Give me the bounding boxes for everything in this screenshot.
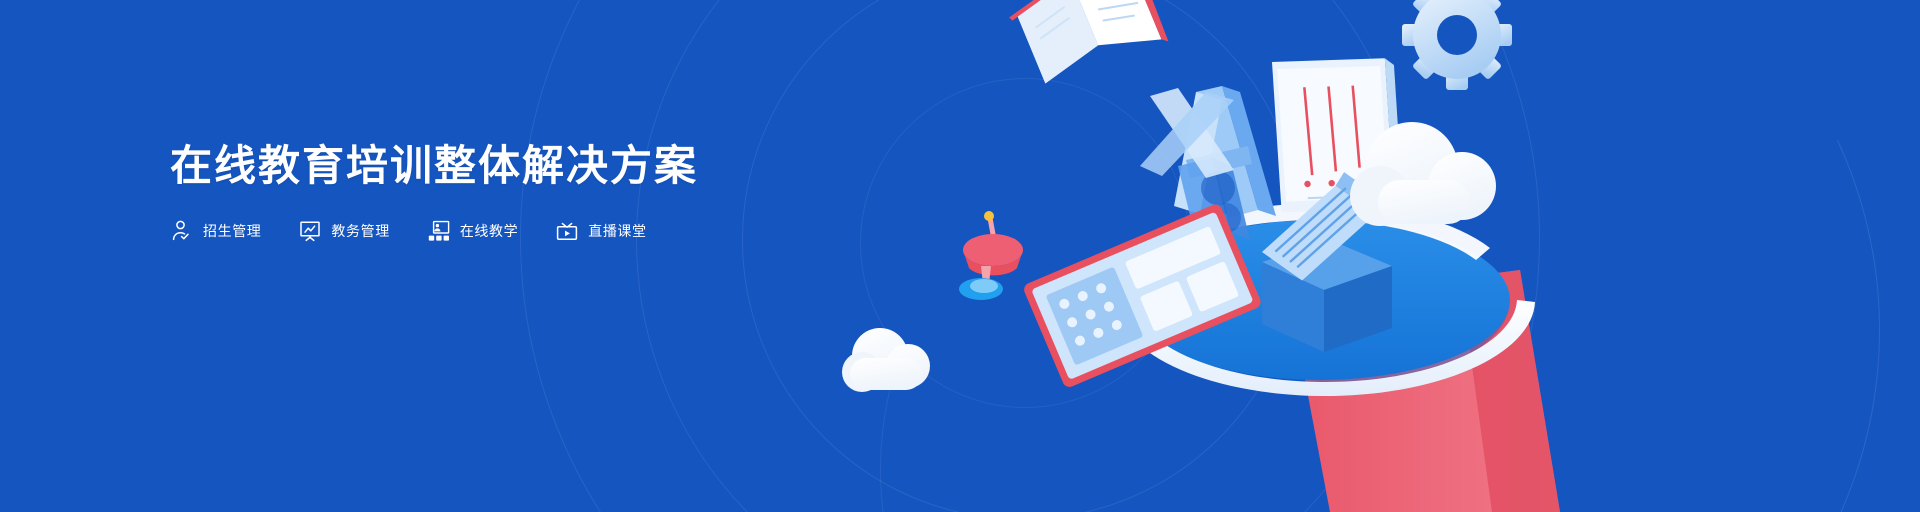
feature-item-enrollment[interactable]: 招生管理 <box>170 219 261 243</box>
spinning-top <box>959 211 1023 300</box>
feature-label: 教务管理 <box>331 221 389 241</box>
hero-content: 在线教育培训整体解决方案 招生管理 <box>170 140 870 243</box>
user-check-icon <box>170 219 194 243</box>
feature-label: 直播课堂 <box>588 221 646 241</box>
hero-banner: 在线教育培训整体解决方案 招生管理 <box>0 0 1920 512</box>
cloud-left <box>842 328 930 392</box>
tv-play-icon <box>555 219 579 243</box>
feature-label: 招生管理 <box>203 221 261 241</box>
education-illustration <box>0 0 1920 512</box>
feature-item-online-teaching[interactable]: 在线教学 <box>427 219 518 243</box>
feature-item-live-class[interactable]: 直播课堂 <box>555 219 646 243</box>
gear <box>1402 0 1512 90</box>
feature-list: 招生管理 教务管理 <box>170 219 870 243</box>
classroom-teach-icon <box>427 219 451 243</box>
feature-label: 在线教学 <box>460 221 518 241</box>
page-title: 在线教育培训整体解决方案 <box>170 140 870 193</box>
feature-item-academic[interactable]: 教务管理 <box>298 219 389 243</box>
presentation-chart-icon <box>298 219 322 243</box>
open-book <box>1002 0 1169 88</box>
